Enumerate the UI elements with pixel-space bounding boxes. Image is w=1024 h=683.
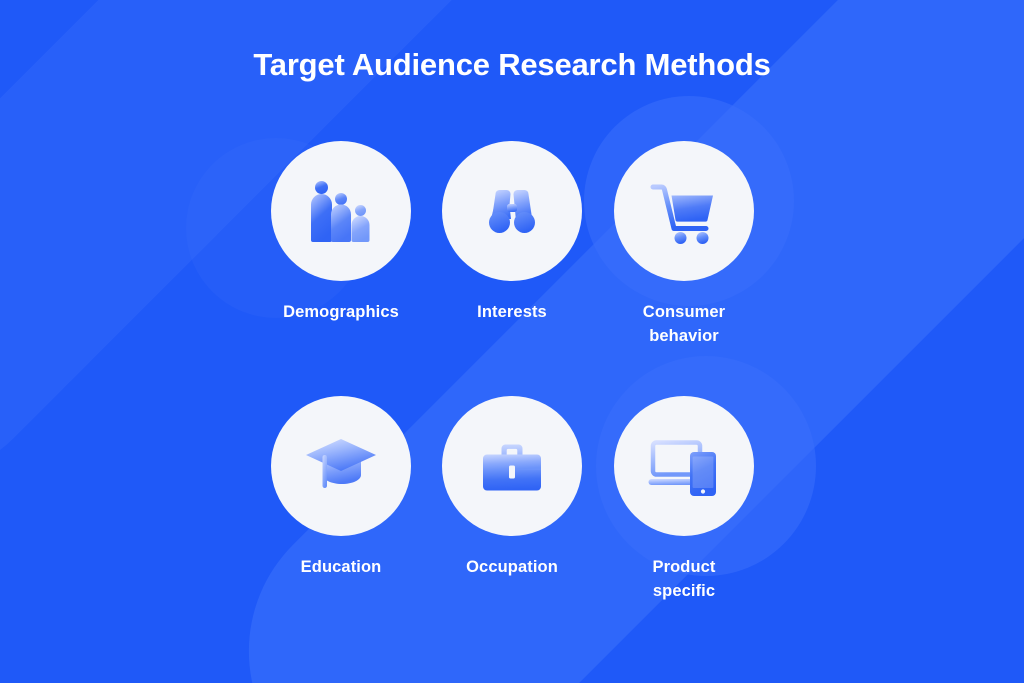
laptop-phone-icon: [646, 432, 722, 500]
binoculars-icon: [478, 177, 546, 245]
method-item-interests[interactable]: Interests: [426, 141, 598, 325]
method-item-occupation[interactable]: Occupation: [426, 396, 598, 580]
method-label: Education: [255, 556, 427, 580]
method-item-demographics[interactable]: Demographics: [255, 141, 427, 325]
icon-circle: [614, 141, 754, 281]
icon-circle: [442, 141, 582, 281]
people-bar-chart-icon: [305, 175, 377, 247]
method-label: Consumer behavior: [625, 301, 743, 349]
icon-circle: [271, 141, 411, 281]
graduation-cap-icon: [302, 432, 380, 500]
method-label: Product specific: [625, 556, 743, 604]
method-item-product-specific[interactable]: Product specific: [598, 396, 770, 604]
briefcase-icon: [477, 432, 547, 500]
methods-grid: Demographics: [0, 141, 1024, 651]
method-item-consumer-behavior[interactable]: Consumer behavior: [598, 141, 770, 349]
method-label: Demographics: [255, 301, 427, 325]
method-label: Interests: [426, 301, 598, 325]
shopping-cart-icon: [647, 176, 721, 246]
icon-circle: [271, 396, 411, 536]
page-title: Target Audience Research Methods: [0, 47, 1024, 83]
method-item-education[interactable]: Education: [255, 396, 427, 580]
infographic-canvas: Target Audience Research Methods: [0, 0, 1024, 683]
method-label: Occupation: [426, 556, 598, 580]
methods-row: Demographics: [0, 141, 1024, 396]
icon-circle: [442, 396, 582, 536]
icon-circle: [614, 396, 754, 536]
methods-row: Education: [0, 396, 1024, 651]
